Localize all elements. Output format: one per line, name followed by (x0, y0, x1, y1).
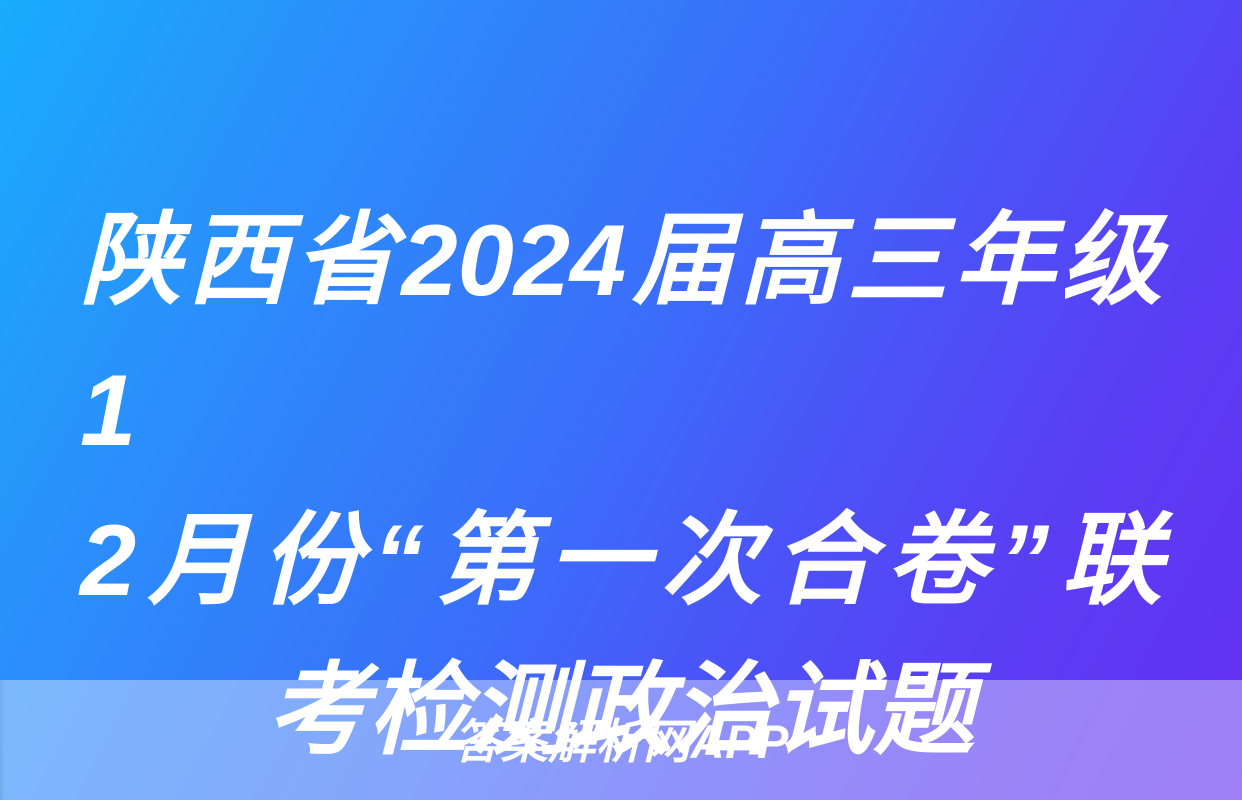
app-watermark-label: 答案解析网APP (453, 718, 789, 765)
footer-watermark-band: 答案解析网APP (0, 680, 1242, 800)
poster-canvas: 陕西省2024届高三年级1 2月份“第一次合卷”联 考检测政治试题 答案解析网A… (0, 0, 1242, 800)
title-line-2: 2月份“第一次合卷”联 (80, 486, 1162, 636)
page-title: 陕西省2024届高三年级1 2月份“第一次合卷”联 考检测政治试题 (80, 186, 1162, 626)
title-line-1: 陕西省2024届高三年级1 (80, 186, 1162, 486)
